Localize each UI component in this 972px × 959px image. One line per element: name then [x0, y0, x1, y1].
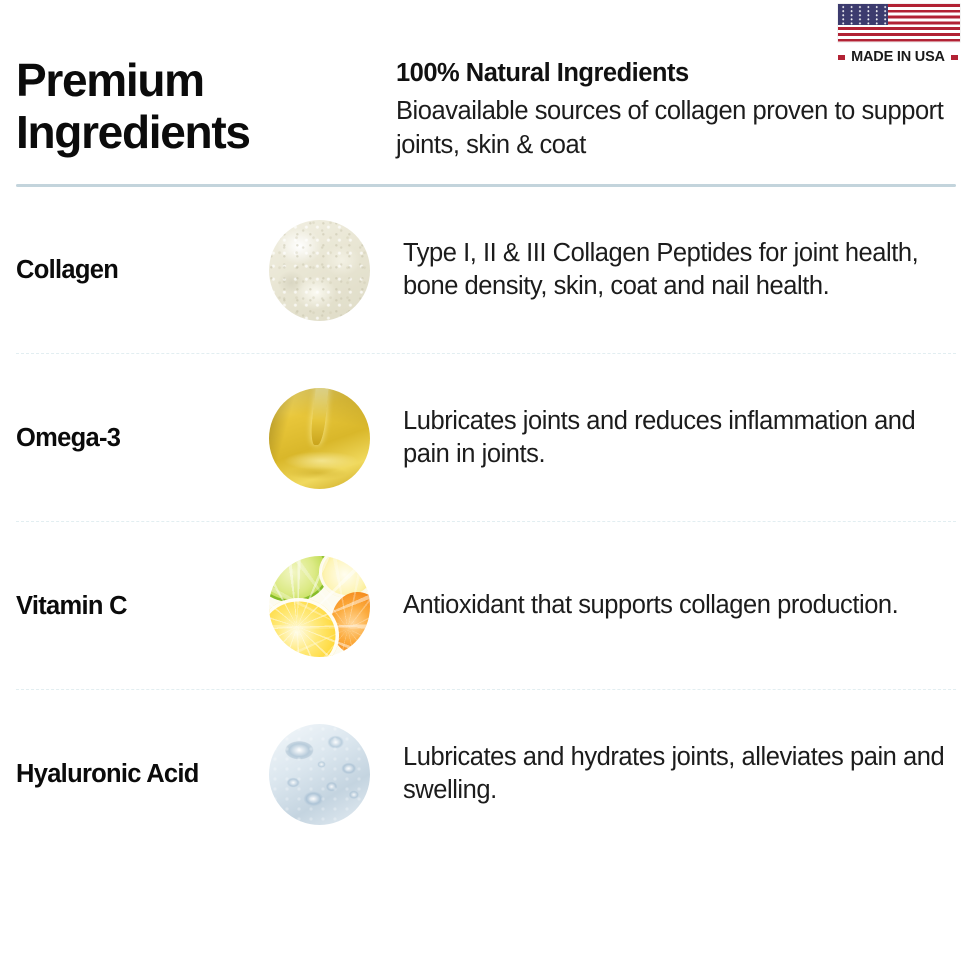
- ingredient-name: Hyaluronic Acid: [16, 759, 238, 789]
- ingredient-list: Collagen Type I, II & III Collagen Pepti…: [0, 187, 972, 857]
- ingredient-row-hyaluronic-acid: Hyaluronic Acid Lubricates and hydrates …: [16, 691, 956, 857]
- ingredient-description: Lubricates joints and reduces inflammati…: [400, 405, 956, 473]
- header-description: Bioavailable sources of collagen proven …: [396, 95, 956, 163]
- ingredient-description: Lubricates and hydrates joints, alleviat…: [400, 741, 956, 809]
- ingredient-row-vitamin-c: Vitamin C Antioxidant that supports coll…: [16, 523, 956, 689]
- made-in-usa-badge: MADE IN USA: [832, 2, 964, 68]
- ingredient-thumb-cell: [238, 556, 400, 657]
- ingredient-thumb-cell: [238, 724, 400, 825]
- ingredient-description: Type I, II & III Collagen Peptides for j…: [400, 237, 956, 305]
- caption-dot-right-icon: [951, 55, 958, 60]
- ingredient-name: Omega-3: [16, 423, 238, 453]
- water-droplets-image: [269, 724, 370, 825]
- made-in-usa-label: MADE IN USA: [851, 49, 945, 65]
- fish-oil-image: [269, 388, 370, 489]
- caption-dot-left-icon: [838, 55, 845, 60]
- ingredient-name: Collagen: [16, 255, 238, 285]
- ingredient-row-omega-3: Omega-3 Lubricates joints and reduces in…: [16, 355, 956, 521]
- ingredient-thumb-cell: [238, 388, 400, 489]
- citrus-veins: [269, 556, 370, 657]
- badge-caption-row: MADE IN USA: [832, 49, 964, 65]
- collagen-powder-image: [269, 220, 370, 321]
- page-title: Premium Ingredients: [16, 50, 396, 159]
- ingredient-name: Vitamin C: [16, 591, 238, 621]
- flag-stars: [838, 4, 888, 25]
- usa-flag-icon: [832, 2, 964, 48]
- ingredient-thumb-cell: [238, 220, 400, 321]
- flag-canton: [838, 4, 888, 25]
- header: Premium Ingredients 100% Natural Ingredi…: [0, 0, 972, 162]
- ingredient-row-collagen: Collagen Type I, II & III Collagen Pepti…: [16, 187, 956, 353]
- ingredient-description: Antioxidant that supports collagen produ…: [400, 589, 956, 623]
- citrus-fruit-image: [269, 556, 370, 657]
